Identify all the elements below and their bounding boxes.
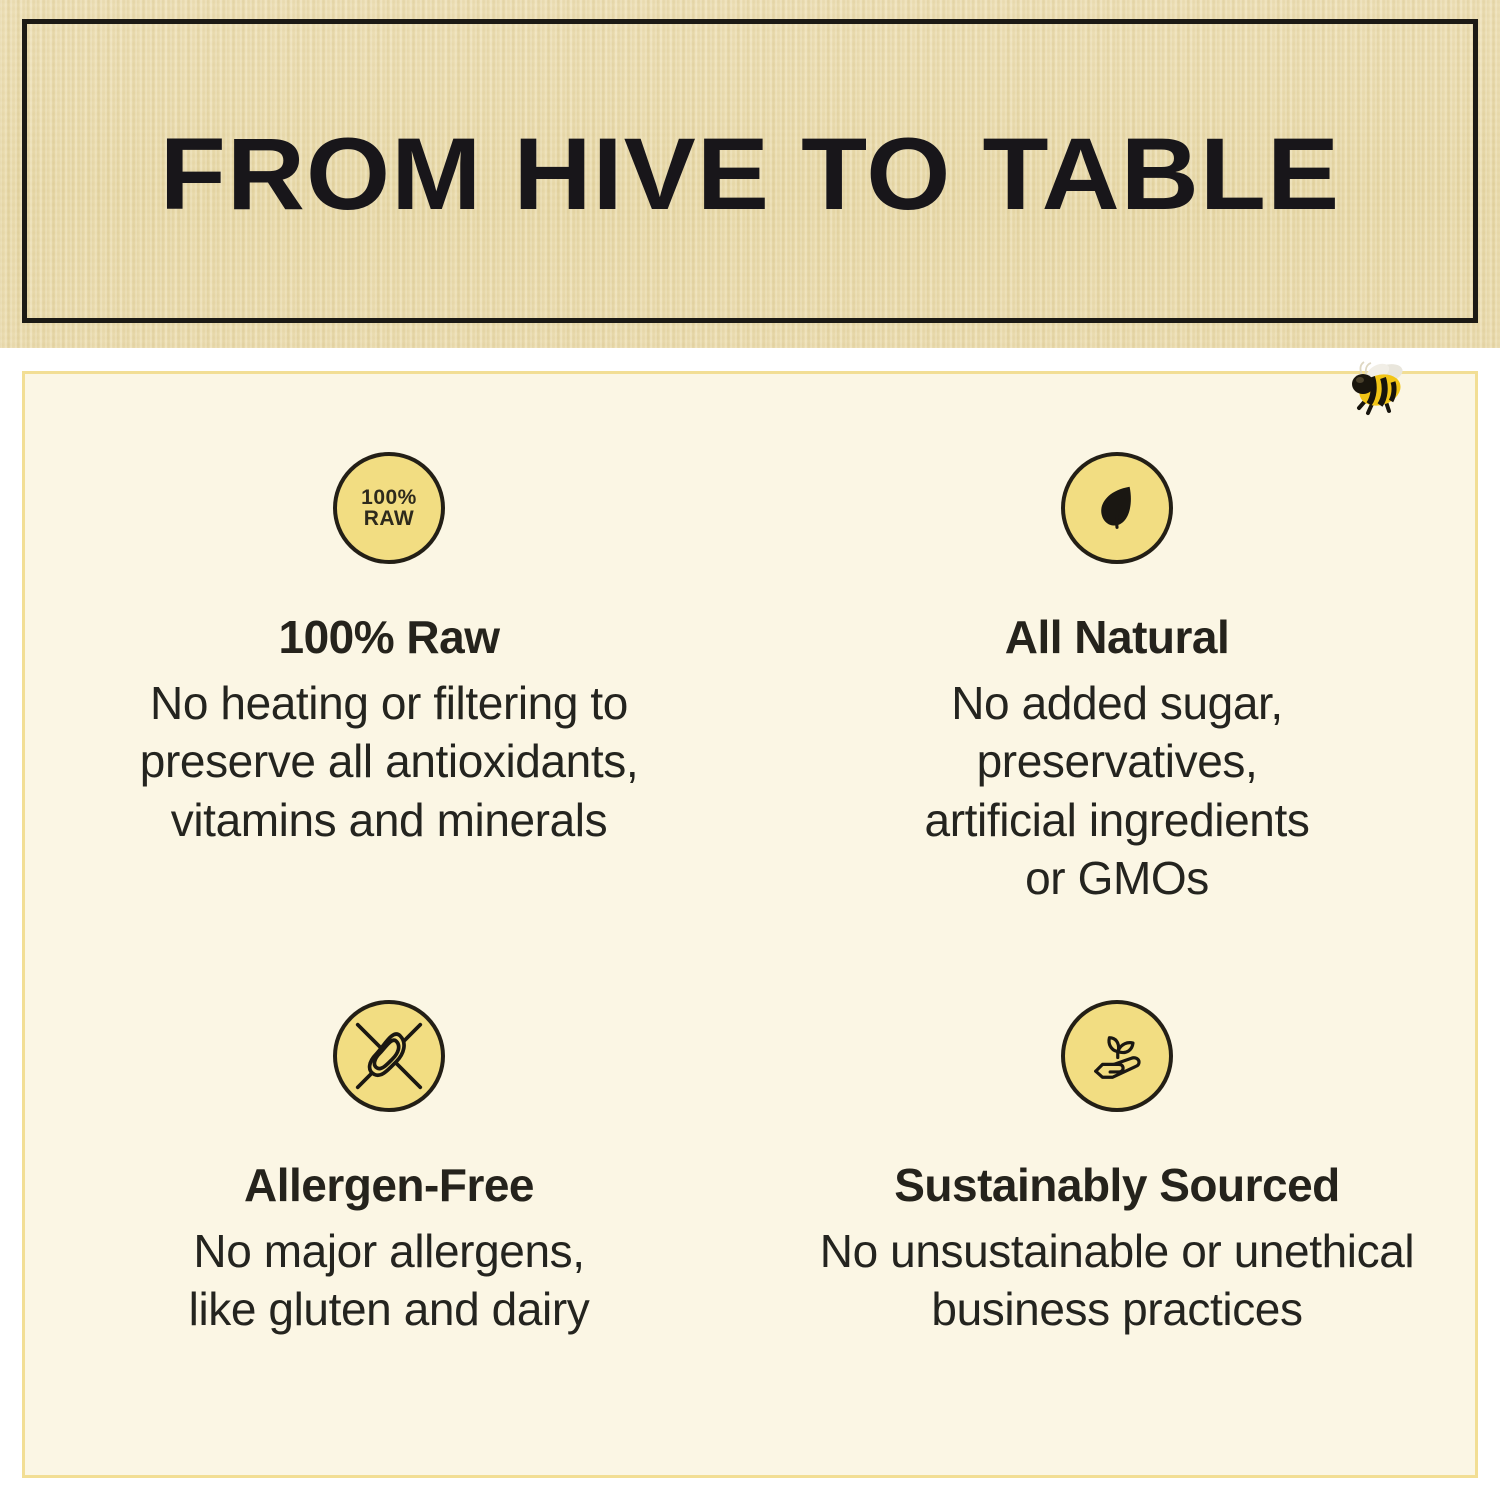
infographic-page: FROM HIVE TO TABLE xyxy=(0,0,1500,1500)
bee-icon xyxy=(1342,356,1414,422)
feature-description: No heating or filtering to preserve all … xyxy=(69,674,709,849)
feature-description: No unsustainable or unethical business p… xyxy=(797,1222,1437,1339)
feature-card-all-natural: All Natural No added sugar, preservative… xyxy=(753,374,1478,928)
header-banner: FROM HIVE TO TABLE xyxy=(0,0,1500,348)
no-peanut-icon xyxy=(333,1000,445,1112)
100-percent-raw-badge-icon: 100% RAW xyxy=(333,452,445,564)
page-title: FROM HIVE TO TABLE xyxy=(0,0,1500,348)
feature-title: 100% Raw xyxy=(278,614,499,660)
feature-card-100-percent-raw: 100% RAW 100% Raw No heating or filterin… xyxy=(25,374,753,928)
feature-card-allergen-free: Allergen-Free No major allergens, like g… xyxy=(25,928,753,1479)
feature-card-sustainably-sourced: Sustainably Sourced No unsustainable or … xyxy=(753,928,1478,1479)
hand-holding-sprout-icon xyxy=(1061,1000,1173,1112)
features-panel: 100% RAW 100% Raw No heating or filterin… xyxy=(22,371,1478,1478)
feature-description: No major allergens, like gluten and dair… xyxy=(174,1222,604,1339)
feature-title: Allergen-Free xyxy=(244,1162,534,1208)
features-grid: 100% RAW 100% Raw No heating or filterin… xyxy=(25,374,1478,1478)
feature-title: All Natural xyxy=(1005,614,1230,660)
badge-line-1: 100% xyxy=(361,487,417,508)
feature-title: Sustainably Sourced xyxy=(894,1162,1340,1208)
feature-description: No added sugar, preservatives, artificia… xyxy=(902,674,1332,908)
badge-line-2: RAW xyxy=(364,508,415,529)
leaf-icon xyxy=(1061,452,1173,564)
